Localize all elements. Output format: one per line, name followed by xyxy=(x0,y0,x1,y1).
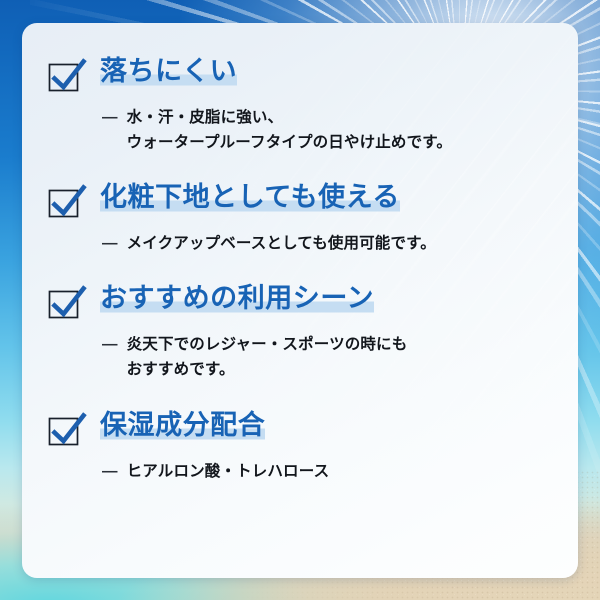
bullet-line: 水・汗・皮脂に強い、 xyxy=(127,105,452,130)
feature-heading-row: おすすめの利用シーン xyxy=(46,280,554,323)
checkbox-check-icon xyxy=(46,56,86,96)
bullet-line: ウォータープルーフタイプの日やけ止めです。 xyxy=(127,130,452,155)
feature-title-wrap: 保湿成分配合 xyxy=(100,407,265,444)
feature-item: おすすめの利用シーン — 炎天下でのレジャー・スポーツの時にもおすすめです。 xyxy=(46,280,554,382)
bullet-line: 炎天下でのレジャー・スポーツの時にも xyxy=(127,332,408,357)
feature-heading-row: 保湿成分配合 xyxy=(46,407,554,450)
feature-bullet: — ヒアルロン酸・トレハロース xyxy=(102,459,554,484)
bullet-text: 炎天下でのレジャー・スポーツの時にもおすすめです。 xyxy=(127,332,408,382)
bullet-line: メイクアップベースとしても使用可能です。 xyxy=(127,231,436,256)
feature-item: 落ちにくい — 水・汗・皮脂に強い、ウォータープルーフタイプの日やけ止めです。 xyxy=(46,53,554,155)
feature-bullet: — 炎天下でのレジャー・スポーツの時にもおすすめです。 xyxy=(102,332,554,382)
feature-heading-row: 化粧下地としても使える xyxy=(46,179,554,222)
bullet-dash-marker: — xyxy=(102,332,118,357)
feature-title: おすすめの利用シーン xyxy=(100,283,374,313)
bullet-text: メイクアップベースとしても使用可能です。 xyxy=(127,231,436,256)
feature-title-wrap: 化粧下地としても使える xyxy=(100,179,400,216)
feature-list: 落ちにくい — 水・汗・皮脂に強い、ウォータープルーフタイプの日やけ止めです。 … xyxy=(22,23,578,484)
feature-card: 落ちにくい — 水・汗・皮脂に強い、ウォータープルーフタイプの日やけ止めです。 … xyxy=(22,23,578,578)
feature-bullets: — メイクアップベースとしても使用可能です。 xyxy=(102,231,554,256)
feature-bullet: — メイクアップベースとしても使用可能です。 xyxy=(102,231,554,256)
feature-title: 保湿成分配合 xyxy=(100,410,265,440)
feature-title-wrap: おすすめの利用シーン xyxy=(100,280,374,317)
feature-heading-row: 落ちにくい xyxy=(46,53,554,96)
bullet-text: ヒアルロン酸・トレハロース xyxy=(127,459,330,484)
bullet-dash-marker: — xyxy=(102,231,118,256)
feature-title-wrap: 落ちにくい xyxy=(100,53,237,90)
feature-title: 化粧下地としても使える xyxy=(100,182,400,212)
feature-bullets: — ヒアルロン酸・トレハロース xyxy=(102,459,554,484)
bullet-dash-marker: — xyxy=(102,459,118,484)
bullet-line: おすすめです。 xyxy=(127,357,408,382)
feature-bullets: — 水・汗・皮脂に強い、ウォータープルーフタイプの日やけ止めです。 xyxy=(102,105,554,155)
bullet-line: ヒアルロン酸・トレハロース xyxy=(127,459,330,484)
checkbox-check-icon xyxy=(46,283,86,323)
feature-title: 落ちにくい xyxy=(100,56,237,86)
bullet-dash-marker: — xyxy=(102,105,118,130)
checkbox-check-icon xyxy=(46,410,86,450)
feature-bullet: — 水・汗・皮脂に強い、ウォータープルーフタイプの日やけ止めです。 xyxy=(102,105,554,155)
feature-bullets: — 炎天下でのレジャー・スポーツの時にもおすすめです。 xyxy=(102,332,554,382)
checkbox-check-icon xyxy=(46,182,86,222)
feature-item: 化粧下地としても使える — メイクアップベースとしても使用可能です。 xyxy=(46,179,554,256)
bullet-text: 水・汗・皮脂に強い、ウォータープルーフタイプの日やけ止めです。 xyxy=(127,105,452,155)
feature-item: 保湿成分配合 — ヒアルロン酸・トレハロース xyxy=(46,407,554,484)
